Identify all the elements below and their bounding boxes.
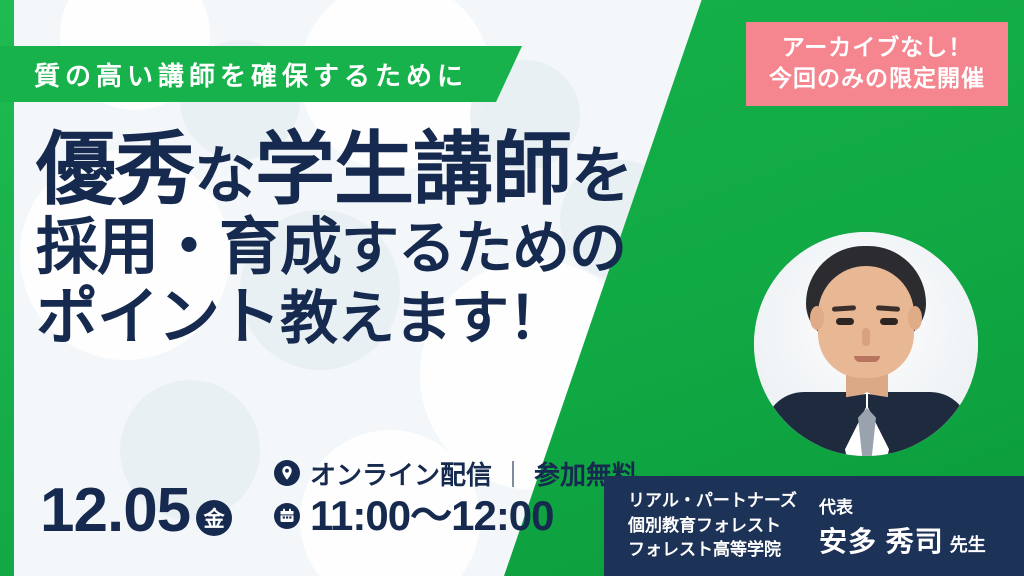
event-date-number: 12.05 <box>40 480 190 542</box>
headline-part-suru-tame: するための <box>341 218 626 279</box>
headline-part-excellent: 優秀 <box>36 128 194 213</box>
eyebrow-tag: 質の高い講師を確保するために <box>0 46 522 102</box>
headline-part-na: な <box>194 144 255 210</box>
speaker-role: 代表 <box>819 493 986 518</box>
headline-part-student-instructor: 学生講師 <box>255 128 571 213</box>
event-time-text: 11:00〜12:00 <box>310 494 554 538</box>
seminar-banner: 質の高い講師を確保するために アーカイブなし！ 今回のみの限定開催 優秀 な 学… <box>0 0 1024 576</box>
speaker-identity: 代表 安多 秀司 先生 <box>819 493 986 560</box>
avatar <box>754 232 978 456</box>
page-title: 優秀 な 学生講師 を 採用・育成 するための ポイント 教えます！ <box>36 128 796 350</box>
badge-line-1: アーカイブなし！ <box>752 32 1002 63</box>
speaker-name: 安多 秀司 <box>819 520 944 560</box>
calendar-icon <box>272 501 302 531</box>
org-line-2: 個別教育フォレスト <box>628 514 797 539</box>
event-location-text: オンライン配信 <box>310 455 492 492</box>
speaker-name-suffix: 先生 <box>950 531 986 557</box>
org-line-3: フォレスト高等学院 <box>628 538 797 563</box>
headline-part-hire-train: 採用・育成 <box>36 215 341 281</box>
org-line-1: リアル・パートナーズ <box>628 489 797 514</box>
eyebrow-text: 質の高い講師を確保するために <box>34 56 468 93</box>
speaker-panel: リアル・パートナーズ 個別教育フォレスト フォレスト高等学院 代表 安多 秀司 … <box>604 476 1024 576</box>
event-date: 12.05 金 <box>40 480 232 542</box>
limited-offer-badge: アーカイブなし！ 今回のみの限定開催 <box>746 22 1008 106</box>
headline-part-wo: を <box>571 144 632 210</box>
badge-line-2: 今回のみの限定開催 <box>752 63 1002 94</box>
event-location-row: オンライン配信 ｜ 参加無料 <box>272 455 638 492</box>
headline-part-points: ポイント <box>36 285 280 351</box>
map-pin-icon <box>272 458 302 488</box>
event-time-row: 11:00〜12:00 <box>272 494 638 538</box>
speaker-organization: リアル・パートナーズ 個別教育フォレスト フォレスト高等学院 <box>628 489 797 563</box>
info-separator: ｜ <box>500 455 526 492</box>
event-info: オンライン配信 ｜ 参加無料 11:00〜12:00 <box>272 455 638 540</box>
headline-part-teach: 教えます！ <box>280 288 565 349</box>
event-day-of-week-badge: 金 <box>196 500 232 536</box>
